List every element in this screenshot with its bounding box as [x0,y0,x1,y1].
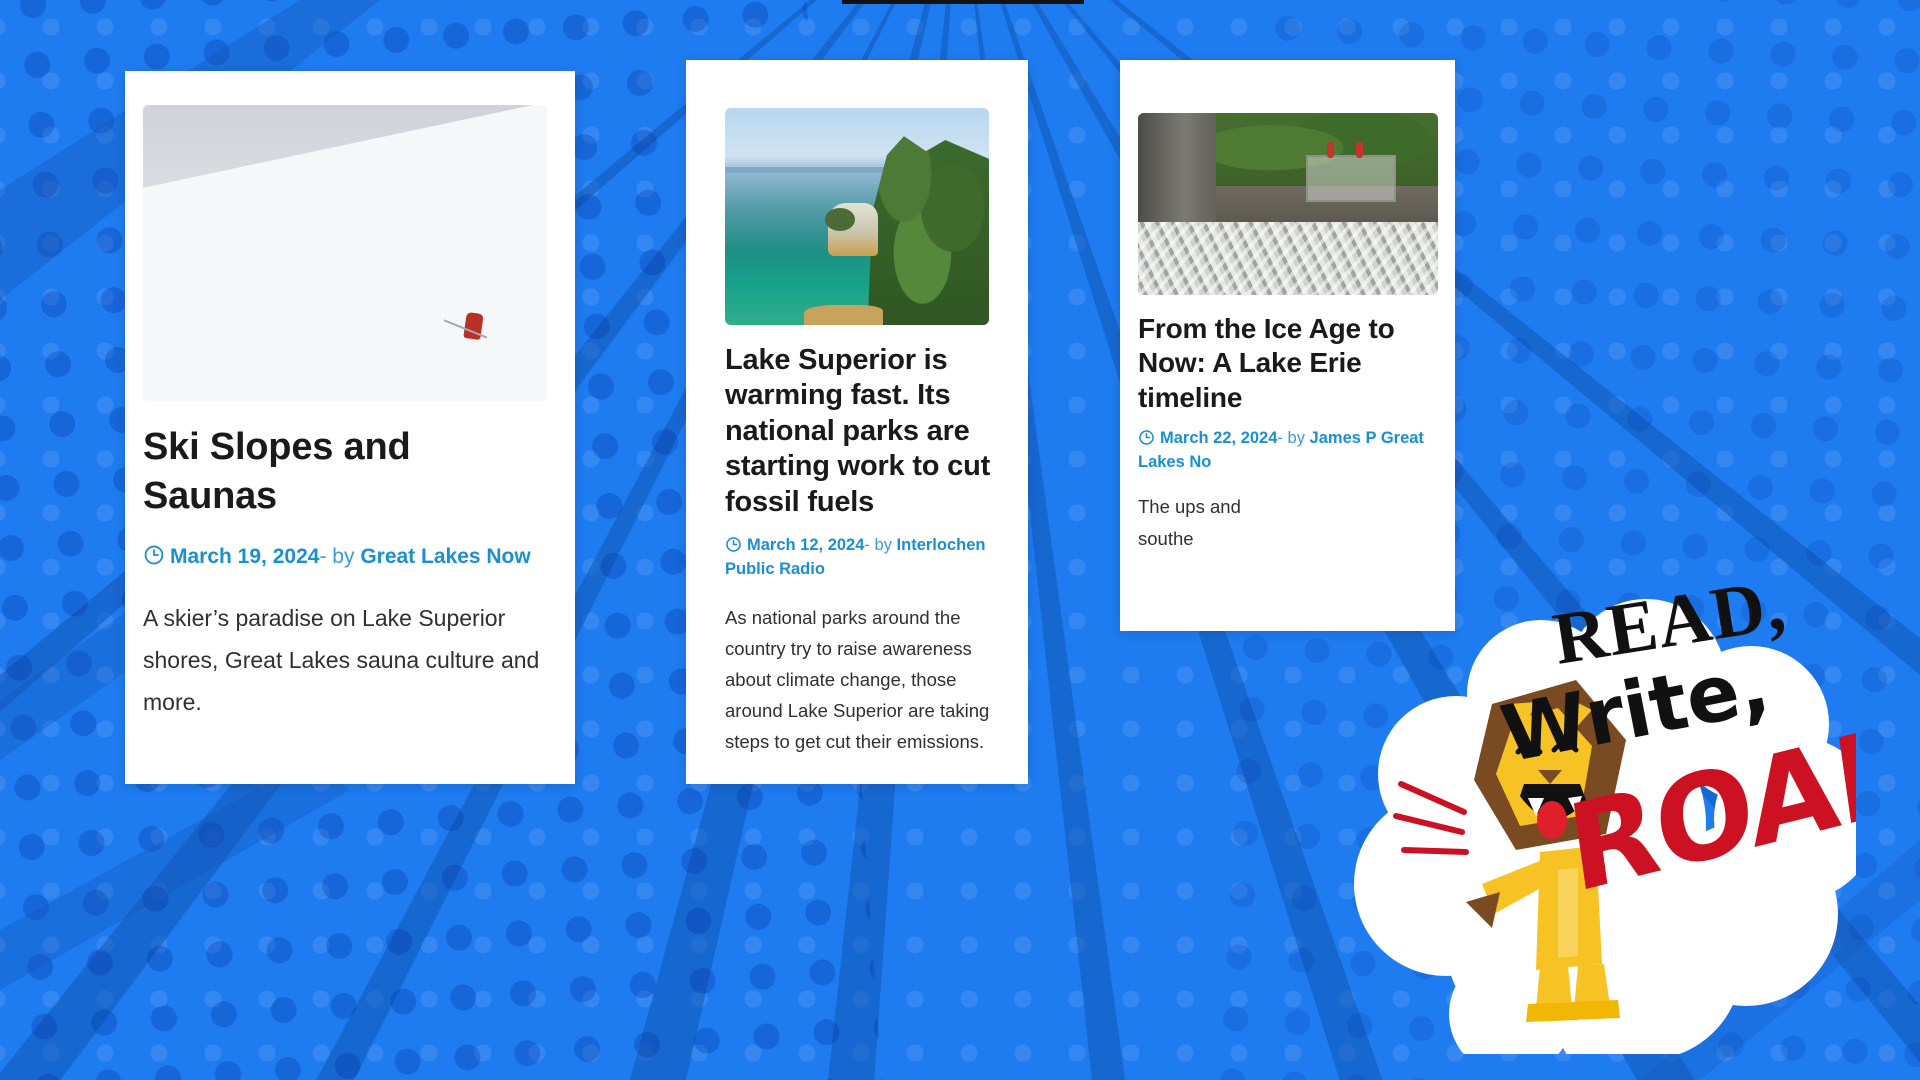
clock-icon [143,544,165,566]
read-write-roar-logo[interactable]: READ, Write, ROAR! [1296,584,1856,1054]
card-body: Lake Superior is warming fast. Its natio… [725,343,1011,757]
meta-separator: - [319,545,326,568]
article-thumbnail[interactable] [143,105,547,401]
article-author[interactable]: James P [1310,429,1377,447]
article-meta: March 22, 2024- by James P Great Lakes N… [1138,427,1438,475]
by-label: by [332,545,354,568]
by-label: by [875,536,892,554]
article-card[interactable]: From the Ice Age to Now: A Lake Erie tim… [1120,60,1455,631]
article-thumbnail[interactable] [725,108,989,325]
ski-slope-image [143,105,547,401]
lake-superior-image [725,108,989,325]
excerpt-line-2: southe [1138,528,1194,549]
article-title[interactable]: Ski Slopes and Saunas [143,423,547,522]
article-date[interactable]: March 19, 2024 [170,545,319,568]
card-body: Ski Slopes and Saunas March 19, 2024- by… [143,423,547,724]
lake-erie-fish-image [1138,113,1438,295]
clock-icon [1138,429,1155,446]
card-body: From the Ice Age to Now: A Lake Erie tim… [1138,312,1438,554]
article-date[interactable]: March 12, 2024 [747,536,864,554]
article-title[interactable]: From the Ice Age to Now: A Lake Erie tim… [1138,312,1438,415]
article-title[interactable]: Lake Superior is warming fast. Its natio… [725,343,1011,520]
article-meta: March 12, 2024- by Interlochen Public Ra… [725,534,1011,582]
article-date[interactable]: March 22, 2024 [1160,429,1277,447]
article-card[interactable]: Lake Superior is warming fast. Its natio… [686,60,1028,784]
article-author[interactable]: Great Lakes Now [360,545,530,568]
article-meta: March 19, 2024- by Great Lakes Now [143,542,547,572]
article-thumbnail[interactable] [1138,113,1438,295]
by-label: by [1288,429,1305,447]
article-excerpt: As national parks around the country try… [725,602,1011,757]
excerpt-line-1: The ups and [1138,496,1241,517]
clock-icon [725,536,742,553]
meta-separator: - [864,536,870,554]
article-excerpt: The ups andsouthe [1138,491,1438,554]
meta-separator: - [1277,429,1283,447]
article-excerpt: A skier’s paradise on Lake Superior shor… [143,598,547,724]
article-card[interactable]: Ski Slopes and Saunas March 19, 2024- by… [125,71,575,784]
